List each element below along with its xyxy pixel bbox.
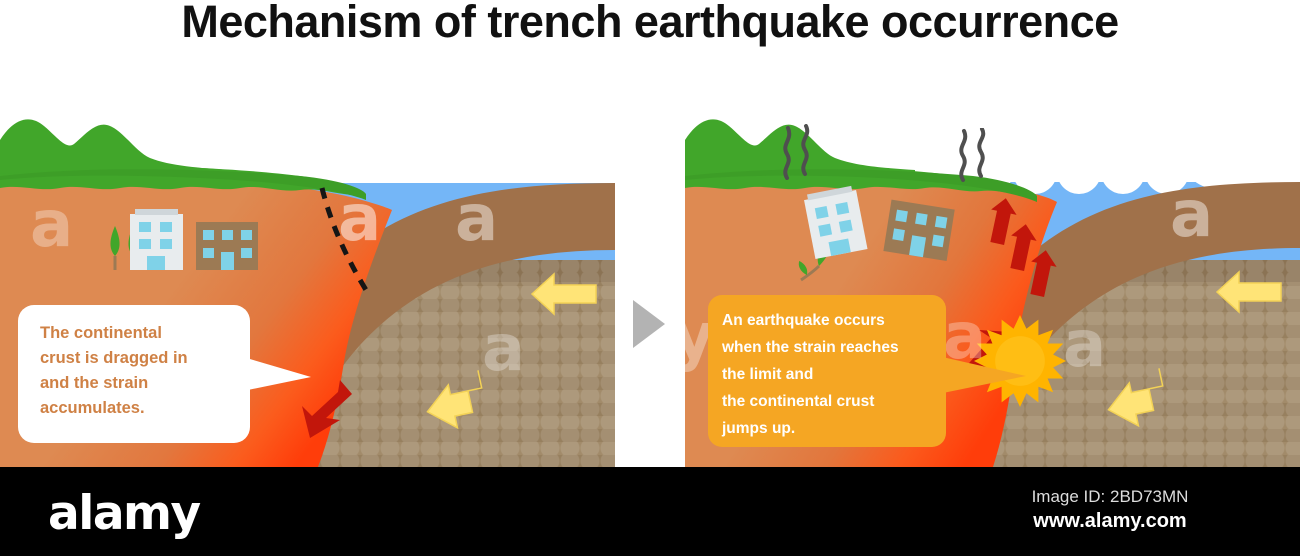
rebound-arrows-up (985, 198, 1095, 328)
tree-icon (106, 226, 124, 275)
bubble-line: and the strain (40, 371, 234, 396)
bubble-line: accumulates. (40, 396, 234, 421)
play-triangle-right-icon (633, 300, 665, 348)
plate-motion-arrow-left-right-panel (1215, 270, 1281, 314)
speech-bubble-left: The continental crust is dragged in and … (18, 305, 250, 443)
plate-bend-arrow-right-panel (1103, 370, 1167, 432)
bubble-line: jumps up. (722, 415, 934, 442)
alamy-logo: alamy (48, 486, 200, 541)
alamy-url[interactable]: www.alamy.com (1033, 510, 1186, 533)
speech-bubble-tail-right (938, 352, 1028, 398)
bubble-line: An earthquake occurs (722, 307, 934, 334)
fault-dashed-line (316, 186, 396, 306)
door (147, 256, 165, 270)
illustration-canvas: Mechanism of trench earthquake occurrenc… (0, 0, 1300, 556)
plate-bend-arrow-left-panel (422, 372, 486, 434)
speech-bubble-tail-left (243, 355, 313, 395)
plate-motion-arrow-left-left-panel (530, 272, 596, 316)
speech-bubble-right: An earthquake occurs when the strain rea… (708, 295, 946, 447)
brown-building-tilted (883, 200, 954, 261)
bubble-line: The continental (40, 321, 234, 346)
image-id-label: Image ID: 2BD73MN (1032, 487, 1189, 507)
white-building-tilted (804, 190, 867, 259)
shaking-lines-icon (955, 128, 991, 189)
page-title: Mechanism of trench earthquake occurrenc… (0, 0, 1300, 50)
brown-building (196, 222, 258, 270)
white-building (130, 214, 183, 270)
shaking-lines-icon (781, 124, 817, 185)
roof (135, 209, 178, 215)
bubble-line: when the strain reaches (722, 334, 934, 361)
door (221, 252, 234, 270)
bubble-line: crust is dragged in (40, 346, 234, 371)
bubble-line: the limit and (722, 361, 934, 388)
bubble-line: the continental crust (722, 388, 934, 415)
panel-divider (615, 100, 685, 467)
